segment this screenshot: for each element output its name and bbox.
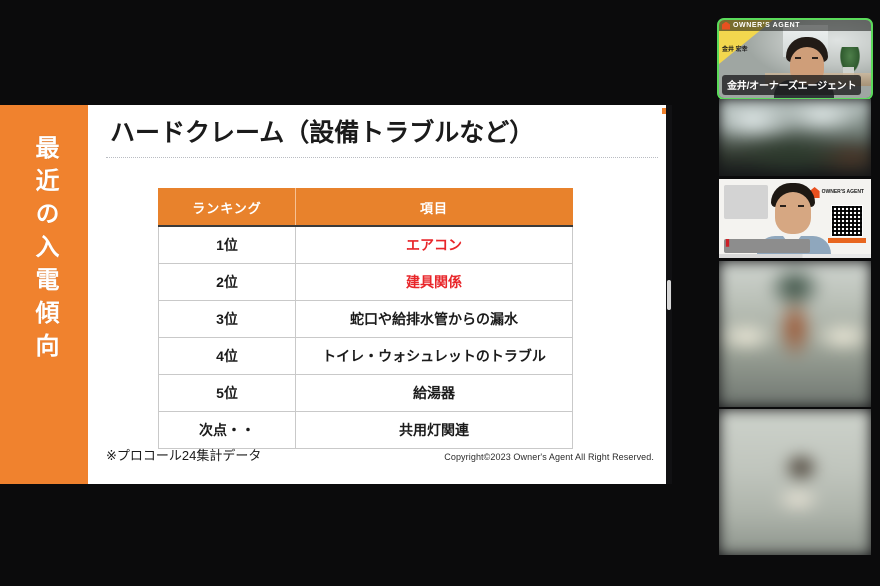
stage-scrollbar[interactable] [666,105,672,484]
stage-scrollbar-thumb[interactable] [667,280,671,310]
cell-item: 蛇口や給排水管からの漏水 [296,301,573,338]
cell-rank: 1位 [159,226,296,264]
cell-item: 共用灯関連 [296,412,573,449]
presentation-slide: 最近の入電傾向 ハードクレーム（設備トラブルなど） ランキング 項目 [0,105,670,484]
participant-tile[interactable] [719,409,871,555]
table-row: 2位 建具関係 [159,264,573,301]
slide-footnote: ※プロコール24集計データ [106,445,261,464]
slide-title: ハードクレーム（設備トラブルなど） [110,113,534,149]
cell-rank: 次点・・ [159,412,296,449]
participant-tile[interactable] [719,99,871,176]
eye-left [795,57,801,59]
participant-head [771,183,815,241]
qr-code-caption [828,238,866,243]
slide-copyright: Copyright©2023 Owner's Agent All Right R… [444,452,654,462]
brand-banner: OWNER'S AGENT [719,20,871,31]
participant-tile[interactable]: OWNER'S AGENT [719,179,871,258]
slide-side-band-text: 最近の入電傾向 [32,135,56,366]
cell-rank: 5位 [159,375,296,412]
brand-banner-text: OWNER'S AGENT [733,22,800,29]
qr-code-icon [831,205,863,237]
table-row: 1位 エアコン [159,226,573,264]
cell-item: 建具関係 [296,264,573,301]
table-header-item: 項目 [296,189,573,227]
table-row: 5位 給湯器 [159,375,573,412]
eye-right [812,57,818,59]
table-header-row: ランキング 項目 [159,189,573,227]
face-shape [775,192,811,234]
cell-item: 給湯器 [296,375,573,412]
video-background [719,261,871,407]
background-panel [724,185,768,219]
cell-item: エアコン [296,226,573,264]
cell-rank: 4位 [159,338,296,375]
slide-title-divider [106,157,658,158]
table-header-ranking: ランキング [159,189,296,227]
participant-name-label: 金井/オーナーズエージェント [722,75,861,95]
video-background [719,409,871,555]
participant-tile[interactable] [719,261,871,407]
name-card-text: 金井 宏幸 [722,44,748,53]
cell-item: トイレ・ウォシュレットのトラブル [296,338,573,375]
participant-filmstrip[interactable]: 金井 宏幸 OWNER'S AGENT 金井/オーナーズエージェント [706,0,880,586]
participant-name-label [724,239,810,253]
table-row: 3位 蛇口や給排水管からの漏水 [159,301,573,338]
owners-agent-logo-icon [722,22,730,30]
eye-left [780,205,786,207]
owners-agent-logo: OWNER'S AGENT [810,187,864,198]
cell-rank: 2位 [159,264,296,301]
eye-right [798,205,804,207]
slide-body: ハードクレーム（設備トラブルなど） ランキング 項目 1位 エアコン [88,105,670,484]
ranking-table: ランキング 項目 1位 エアコン 2位 建具関係 [158,188,573,449]
meeting-window: 最近の入電傾向 ハードクレーム（設備トラブルなど） ランキング 項目 [0,0,880,586]
owners-agent-logo-text: OWNER'S AGENT [822,190,864,196]
cell-rank: 3位 [159,301,296,338]
participant-tile-active-speaker[interactable]: 金井 宏幸 OWNER'S AGENT 金井/オーナーズエージェント [717,18,873,100]
video-background [719,99,871,176]
table-row: 4位 トイレ・ウォシュレットのトラブル [159,338,573,375]
shared-content-stage[interactable]: 最近の入電傾向 ハードクレーム（設備トラブルなど） ランキング 項目 [0,0,706,586]
table-row: 次点・・ 共用灯関連 [159,412,573,449]
slide-side-band: 最近の入電傾向 [0,105,88,484]
inner-control-bar [719,254,871,258]
